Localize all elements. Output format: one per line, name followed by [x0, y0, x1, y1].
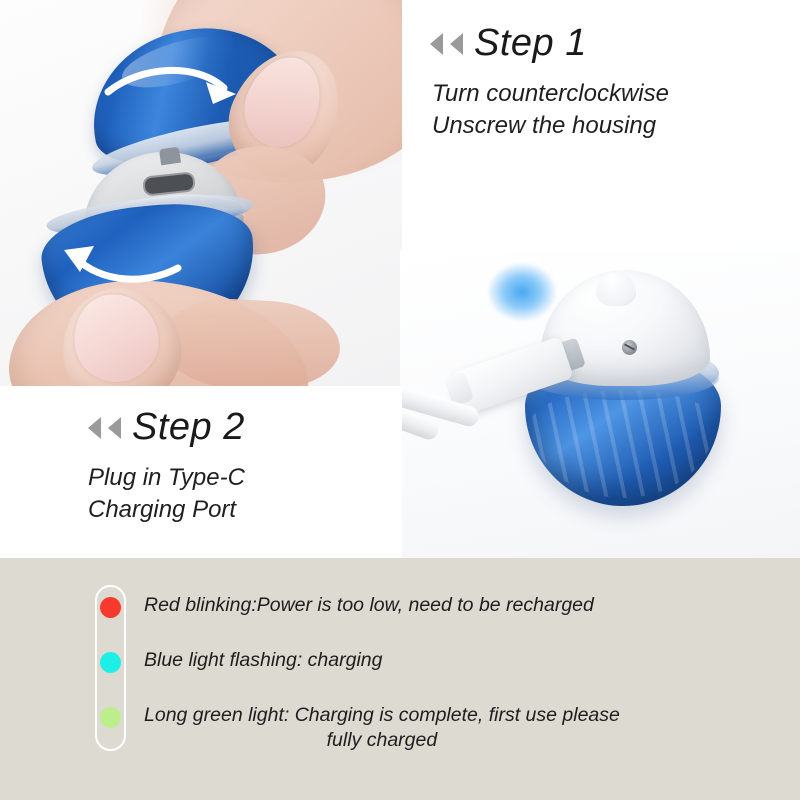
dot-slot-blue: [95, 640, 126, 673]
inner-housing-stem: [159, 147, 181, 166]
double-left-triangle-icon-second: [450, 33, 463, 55]
photo-charging-step: [400, 250, 800, 558]
step-1-heading: Step 1: [430, 22, 587, 65]
legend-row-green: Long green light: Charging is complete, …: [95, 695, 755, 750]
legend-text-green: Long green light: Charging is complete, …: [144, 695, 620, 753]
status-dot-green: [100, 707, 121, 728]
panel-step-2: Step 2 Plug in Type-C Charging Port: [0, 386, 402, 558]
legend-text-green-line-1: Long green light: Charging is complete, …: [144, 704, 620, 726]
led-status-legend: Red blinking:Power is too low, need to b…: [0, 558, 800, 800]
step-1-body: Turn counterclockwise Unscrew the housin…: [432, 78, 669, 142]
double-left-triangle-icon: [430, 33, 443, 55]
ball-top-nub: [596, 272, 636, 306]
led-indicator-glow: [489, 264, 555, 320]
legend-text-blue: Blue light flashing: charging: [144, 640, 383, 673]
step-2-title: Step 2: [132, 406, 245, 449]
legend-row-blue: Blue light flashing: charging: [95, 640, 755, 695]
step-2-heading: Step 2: [88, 406, 245, 449]
legend-text-red: Red blinking:Power is too low, need to b…: [144, 585, 594, 618]
dot-slot-red: [95, 585, 126, 618]
step-2-body: Plug in Type-C Charging Port: [88, 462, 245, 526]
legend-row-list: Red blinking:Power is too low, need to b…: [95, 585, 755, 750]
panel-step-1: Step 1 Turn counterclockwise Unscrew the…: [402, 0, 800, 250]
step-1-line-1: Turn counterclockwise: [432, 80, 669, 107]
dot-slot-green: [95, 695, 126, 728]
status-dot-red: [100, 597, 121, 618]
status-dot-blue: [100, 652, 121, 673]
double-left-triangle-icon: [88, 417, 101, 439]
fingers-lower: [158, 295, 342, 386]
step-2-line-1: Plug in Type-C: [88, 464, 245, 491]
legend-row-red: Red blinking:Power is too low, need to b…: [95, 585, 755, 640]
step-2-line-2: Charging Port: [88, 496, 236, 523]
step-1-title: Step 1: [474, 22, 587, 65]
legend-text-green-line-2: fully charged: [144, 728, 620, 753]
step-1-line-2: Unscrew the housing: [432, 112, 656, 139]
screw-icon: [622, 340, 637, 355]
photo-unscrew-step: [0, 0, 402, 386]
instruction-infographic: Step 1 Turn counterclockwise Unscrew the…: [0, 0, 800, 800]
double-left-triangle-icon-second: [108, 417, 121, 439]
